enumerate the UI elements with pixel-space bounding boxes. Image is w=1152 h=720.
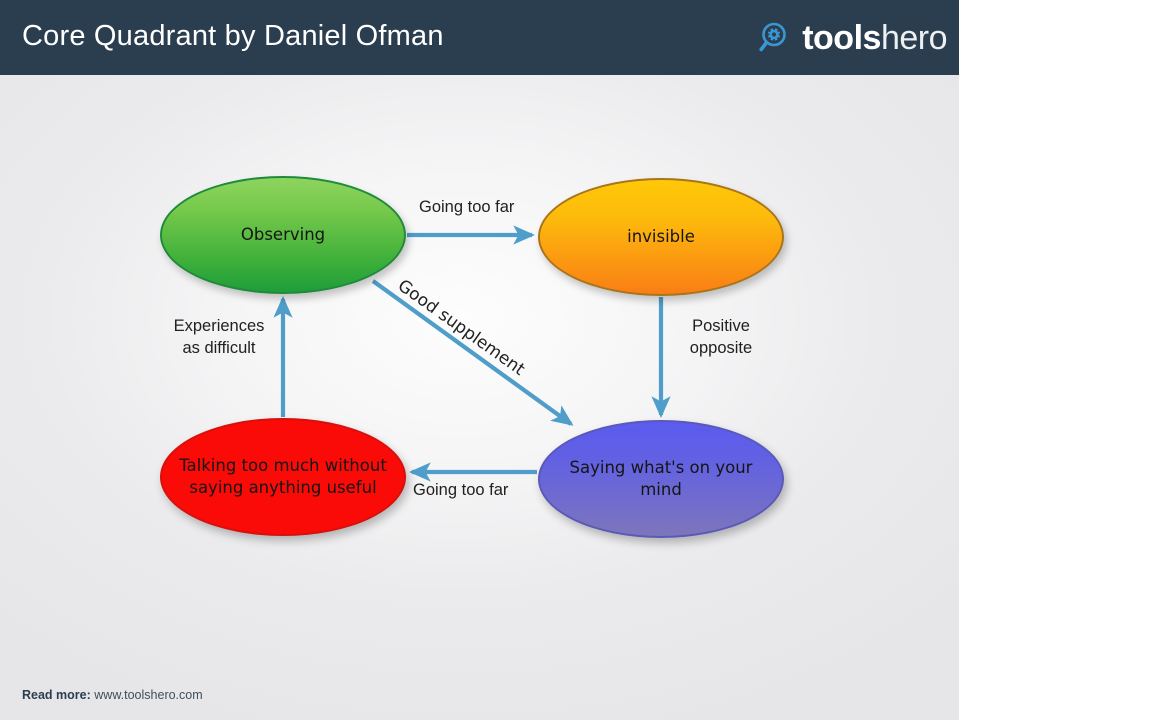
node-talking-too-much[interactable]: Talking too much without saying anything… bbox=[160, 418, 406, 536]
node-invisible-label: invisible bbox=[613, 226, 709, 248]
node-observing[interactable]: Observing bbox=[160, 176, 406, 294]
edge-label-going-too-far-bottom: Going too far bbox=[413, 479, 508, 501]
toolshero-logo: toolshero bbox=[759, 16, 947, 60]
logo-text-tools: tools bbox=[802, 19, 881, 57]
node-talking-label: Talking too much without saying anything… bbox=[162, 455, 404, 499]
core-quadrant-diagram: Observing invisible Talking too much wit… bbox=[0, 75, 959, 675]
logo-wordmark: toolshero bbox=[802, 21, 947, 55]
edge-label-experiences-as-difficult: Experiences as difficult bbox=[160, 315, 278, 360]
node-observing-label: Observing bbox=[227, 224, 339, 246]
edge-label-positive-opposite: Positive opposite bbox=[673, 315, 769, 360]
edge-label-going-too-far-top: Going too far bbox=[419, 196, 514, 218]
page-title: Core Quadrant by Daniel Ofman bbox=[22, 20, 444, 53]
node-invisible[interactable]: invisible bbox=[538, 178, 784, 296]
diagram-arrows bbox=[0, 75, 959, 675]
arrow-observing-to-saying bbox=[373, 281, 571, 424]
node-saying-whats-on-your-mind[interactable]: Saying what's on your mind bbox=[538, 420, 784, 538]
read-more-label: Read more: bbox=[22, 688, 91, 702]
footer-read-more: Read more: www.toolshero.com bbox=[22, 688, 203, 702]
slide-header: Core Quadrant by Daniel Ofman bbox=[0, 0, 959, 75]
logo-text-hero: hero bbox=[881, 19, 947, 57]
node-saying-label: Saying what's on your mind bbox=[540, 457, 782, 501]
slide-canvas: Core Quadrant by Daniel Ofman bbox=[0, 0, 959, 720]
magnifier-gear-icon bbox=[759, 21, 793, 55]
toolshero-url[interactable]: www.toolshero.com bbox=[94, 688, 202, 702]
